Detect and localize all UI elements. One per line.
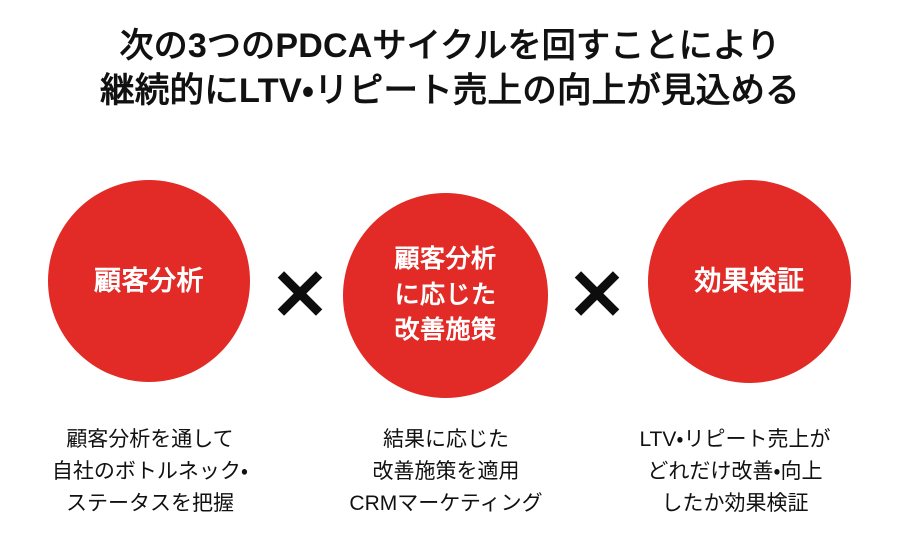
multiply-icon-1 (277, 270, 323, 316)
step-caption-2: 結果に応じた 改善施策を適用 CRMマーケティング (321, 424, 571, 520)
step-circle-2: 顧客分析 に応じた 改善施策 (343, 193, 548, 398)
step-circle-3: 効果検証 (648, 180, 851, 383)
page-title-line-1: 次の3つのPDCAサイクルを回すことにより (0, 24, 900, 69)
step-circle-3-label: 効果検証 (695, 264, 805, 299)
cycle-diagram: 顧客分析 顧客分析 に応じた 改善施策 効果検証 (0, 180, 900, 390)
step-caption-1: 顧客分析を通して 自社のボトルネック・ ステータスを把握 (15, 424, 285, 520)
caption-group: 顧客分析を通して 自社のボトルネック・ ステータスを把握 結果に応じた 改善施策… (0, 424, 900, 534)
page-title-line-2: 継続的にLTV・リピート売上の向上が見込める (0, 69, 900, 115)
slide-canvas: 次の3つのPDCAサイクルを回すことにより 継続的にLTV・リピート売上の向上が… (0, 0, 900, 550)
step-circle-1-label: 顧客分析 (94, 264, 204, 299)
step-circle-2-label: 顧客分析 に応じた 改善施策 (394, 242, 496, 349)
step-circle-1: 顧客分析 (48, 180, 250, 382)
multiply-icon-2 (574, 270, 620, 316)
page-title: 次の3つのPDCAサイクルを回すことにより 継続的にLTV・リピート売上の向上が… (0, 24, 900, 114)
step-caption-3: LTV・リピート売上が どれだけ改善・向上 したか効果検証 (600, 424, 870, 520)
